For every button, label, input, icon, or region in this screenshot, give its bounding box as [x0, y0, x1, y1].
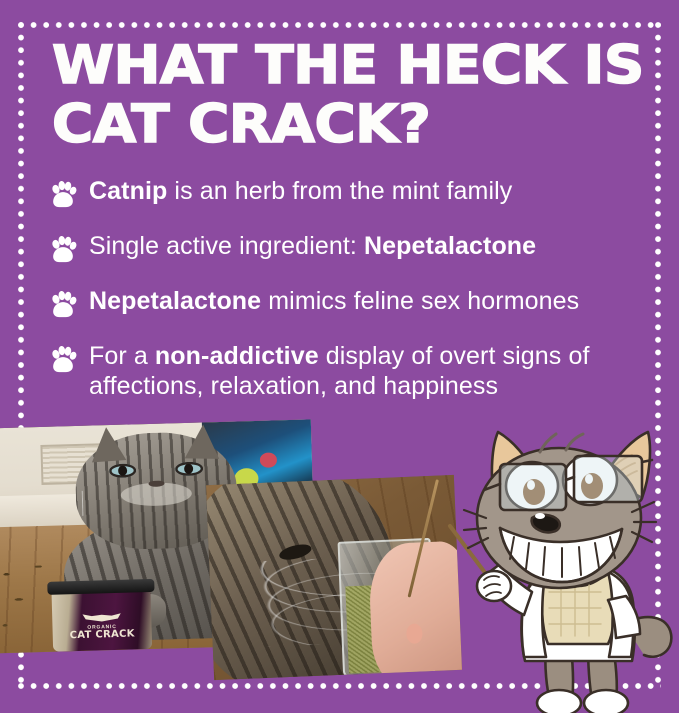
infographic-poster: What the heck is Cat Crack? Catnip is an… [0, 0, 679, 713]
catnip-jar: ORGANIC CAT CRACK [51, 588, 152, 651]
page-title-line-2: Cat Crack? [52, 95, 679, 154]
fact-list: Catnip is an herb from the mint family S… [48, 176, 648, 401]
paw-print-icon [48, 344, 78, 374]
catnip-jar-lid [47, 578, 154, 594]
list-item: For a non-addictive display of overt sig… [48, 341, 648, 401]
professor-cat-mascot [428, 396, 678, 713]
paw-print-icon [48, 234, 78, 264]
page-title: What the heck is Cat Crack? [52, 36, 679, 154]
cat-eye-left [109, 463, 137, 478]
list-item-label: Catnip is an herb from the mint family [89, 176, 512, 206]
list-item-label: For a non-addictive display of overt sig… [89, 341, 648, 401]
human-thumb [406, 623, 423, 644]
list-item: Single active ingredient: Nepetalactone [48, 231, 648, 264]
list-item-label: Nepetalactone mimics feline sex hormones [89, 286, 579, 316]
paw-print-icon [48, 179, 78, 209]
list-item: Nepetalactone mimics feline sex hormones [48, 286, 648, 319]
cat-face-logo-icon [82, 611, 121, 624]
catnip-jar-label: ORGANIC CAT CRACK [60, 605, 144, 646]
jar-brand-text: CAT CRACK [70, 629, 135, 641]
list-item-label: Single active ingredient: Nepetalactone [89, 231, 536, 261]
paw-print-icon [48, 289, 78, 319]
photo-cat-sniffing-catnip [206, 475, 462, 680]
dotted-border-top [18, 22, 661, 28]
page-title-line-1: What the heck is [52, 36, 679, 95]
cat-eye-right [175, 462, 203, 477]
list-item: Catnip is an herb from the mint family [48, 176, 648, 209]
